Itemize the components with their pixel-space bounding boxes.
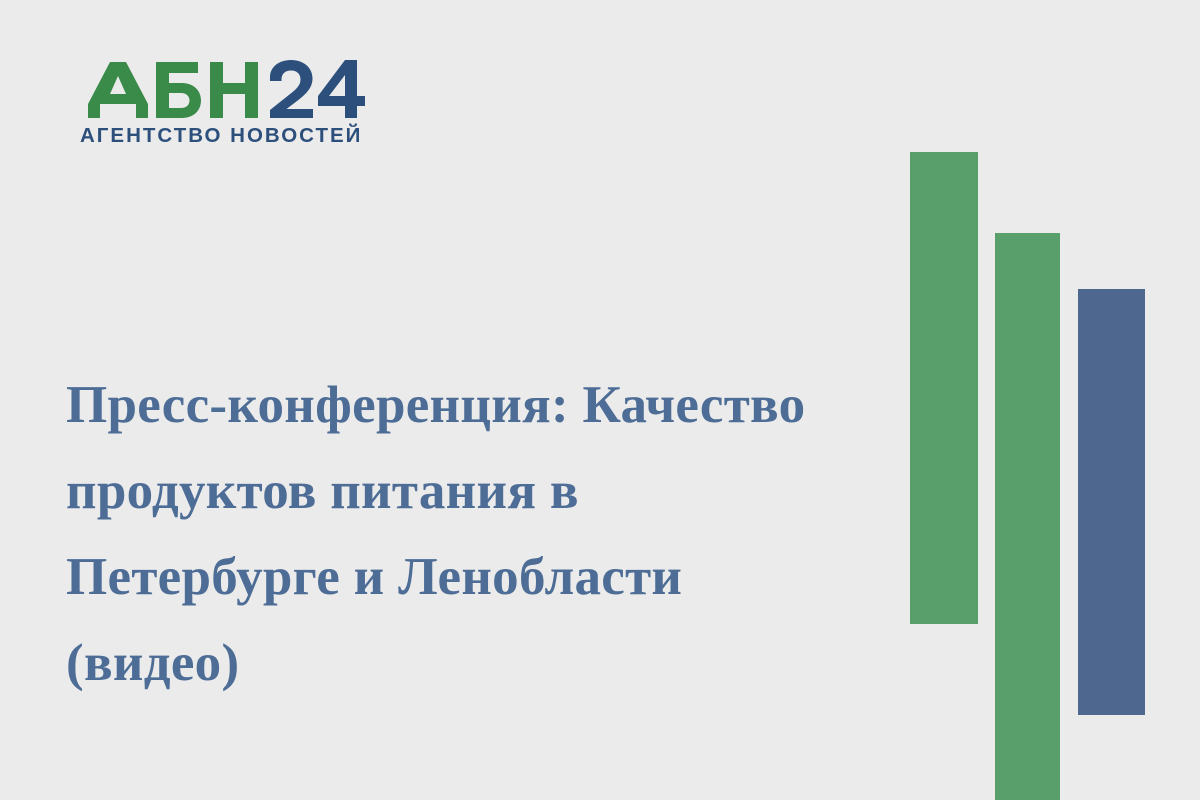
headline-line-2: продуктов питания в (66, 448, 866, 534)
headline-line-4: (видео) (66, 620, 866, 706)
chart-bar-3 (1078, 289, 1145, 715)
chart-bar-1 (910, 152, 978, 624)
logo-wordmark-icon (80, 58, 365, 120)
headline-line-1: Пресс-конференция: Качество (66, 362, 866, 448)
chart-bar-2 (995, 233, 1060, 800)
page-title: Пресс-конференция: Качество продуктов пи… (66, 362, 866, 706)
headline-line-3: Петербурге и Ленобласти (66, 534, 866, 620)
logo-tagline: АГЕНТСТВО НОВОСТЕЙ (80, 126, 370, 147)
news-card: АГЕНТСТВО НОВОСТЕЙ Пресс-конференция: Ка… (0, 0, 1200, 800)
site-logo[interactable]: АГЕНТСТВО НОВОСТЕЙ (80, 58, 370, 158)
